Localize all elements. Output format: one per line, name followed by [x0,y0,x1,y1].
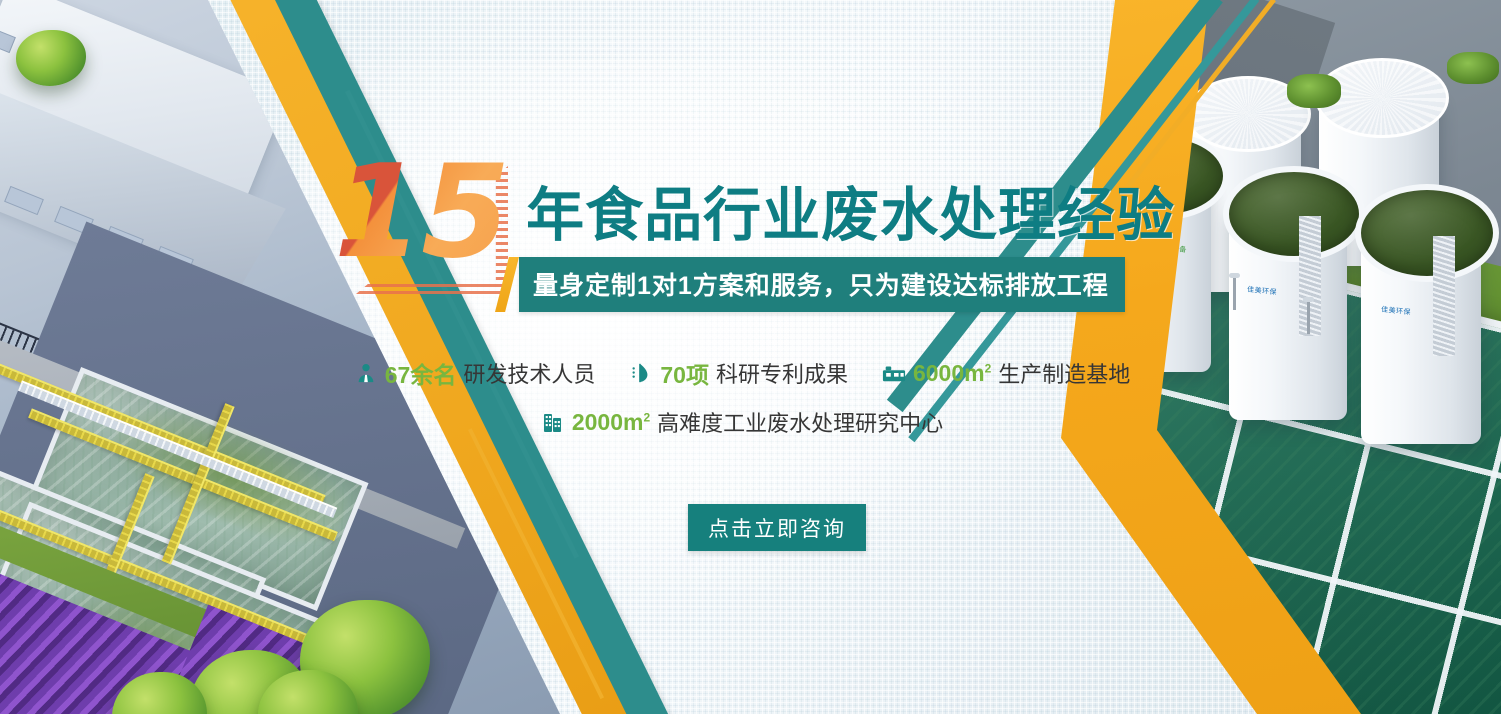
right-photo-tank-stairs [1433,236,1455,356]
right-photo-tank-open-green [1355,184,1499,282]
factory-icon [882,361,906,385]
years-number: 15 [334,152,526,274]
right-photo-hedge [1287,74,1341,108]
subtitle-wrap: 量身定制1对1方案和服务，只为建设达标排放工程 [495,257,1125,312]
stat-item-research-center: 2000m2 高难度工业废水处理研究中心 [541,406,943,438]
stats-row-2: 2000m2 高难度工业废水处理研究中心 [386,406,1098,438]
headline-row: 15 年食品行业废水处理经验 [334,152,1175,274]
page-title: 年食品行业废水处理经验 [526,168,1175,252]
stat-number: 2000m2 [572,409,650,436]
right-photo-lamp-post [1307,300,1310,334]
right-photo-hedge [1447,52,1499,84]
stat-number: 70项 [660,356,709,390]
user-tie-icon [354,361,378,385]
stat-item-patents: 70项 科研专利成果 [629,356,848,390]
subtitle-slash-accent [495,257,519,312]
consult-now-button[interactable]: 点击立即咨询 [688,504,866,551]
stats-block: 67余名 研发技术人员 70项 科研专利成果 [386,356,1098,438]
right-photo-lamp-post [1233,276,1236,310]
right-photo-tank-stairs [1299,216,1321,336]
stat-label: 高难度工业废水处理研究中心 [657,406,943,438]
stat-label: 生产制造基地 [998,357,1130,389]
stat-item-manufacturing-base: 6000m2 生产制造基地 [882,357,1130,389]
subtitle-bar: 量身定制1对1方案和服务，只为建设达标排放工程 [519,257,1125,312]
hero-banner: 污水处理成套设备 佳美环保 佳美环保 15 年食品行业废水处理经验 量 [0,0,1501,714]
patent-leaf-icon [629,361,653,385]
stats-row-1: 67余名 研发技术人员 70项 科研专利成果 [386,356,1098,390]
stat-item-staff: 67余名 研发技术人员 [354,356,596,390]
right-photo-tank-open-green [1223,166,1365,262]
stat-number: 6000m2 [913,360,991,387]
office-building-icon [541,410,565,434]
stat-label: 科研专利成果 [716,357,848,389]
stat-label: 研发技术人员 [463,357,595,389]
stat-number: 67余名 [385,356,457,390]
